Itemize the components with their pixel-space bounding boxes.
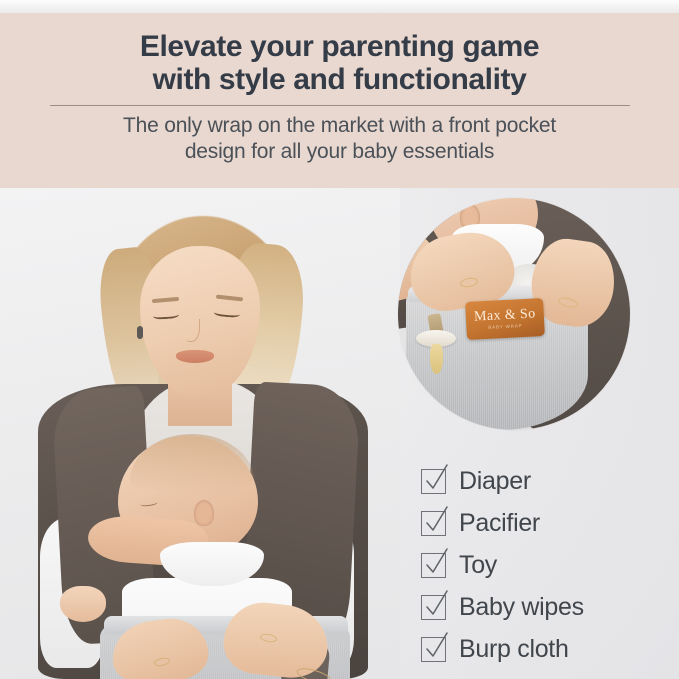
brand-tag-circle-name: Max & So bbox=[474, 306, 536, 324]
mother-lips bbox=[176, 350, 214, 363]
title-divider bbox=[50, 105, 630, 106]
mother-earring bbox=[137, 326, 143, 339]
checkbox-checked-icon[interactable] bbox=[421, 553, 446, 578]
checklist-item[interactable]: Baby wipes bbox=[421, 586, 671, 628]
brand-tag-circle-tagline: BABY WRAP bbox=[488, 322, 522, 331]
checkbox-checked-icon[interactable] bbox=[421, 595, 446, 620]
checklist-item-label: Toy bbox=[459, 551, 497, 579]
product-feature-banner: Elevate your parenting game with style a… bbox=[0, 0, 679, 679]
baby-foot bbox=[60, 586, 106, 622]
checklist-item-label: Baby wipes bbox=[459, 593, 584, 621]
baby-ear bbox=[194, 500, 214, 526]
subhead-line-2: design for all your baby essentials bbox=[30, 139, 650, 165]
headline-line-1: Elevate your parenting game bbox=[140, 30, 539, 63]
checklist-item[interactable]: Burp cloth bbox=[421, 628, 671, 670]
pacifier-circle bbox=[416, 314, 456, 378]
essentials-checklist: Diaper Pacifier Toy bbox=[421, 460, 671, 670]
headline-line-2: with style and functionality bbox=[40, 63, 640, 96]
hero-lifestyle-photo: Max & So BABY WRAP bbox=[0, 188, 400, 679]
checkbox-checked-icon[interactable] bbox=[421, 511, 446, 536]
header-banner: Elevate your parenting game with style a… bbox=[0, 13, 679, 188]
subhead-line-1: The only wrap on the market with a front… bbox=[123, 114, 556, 137]
top-edge-strip bbox=[0, 0, 679, 13]
checklist-item-label: Burp cloth bbox=[459, 635, 569, 663]
checklist-item-label: Diaper bbox=[459, 467, 531, 495]
checklist-item[interactable]: Diaper bbox=[421, 460, 671, 502]
page-subtitle: The only wrap on the market with a front… bbox=[30, 113, 650, 165]
checklist-item[interactable]: Pacifier bbox=[421, 502, 671, 544]
checkbox-checked-icon[interactable] bbox=[421, 469, 446, 494]
checklist-item-label: Pacifier bbox=[459, 509, 540, 537]
checkbox-checked-icon[interactable] bbox=[421, 637, 446, 662]
pocket-detail-circle-photo: Max & So BABY WRAP bbox=[398, 198, 630, 430]
product-photo-zone: Max & So BABY WRAP bbox=[0, 188, 679, 679]
pacifier-teat-circle bbox=[430, 344, 443, 374]
checklist-item[interactable]: Toy bbox=[421, 544, 671, 586]
brand-tag-circle: Max & So BABY WRAP bbox=[465, 298, 545, 340]
page-title: Elevate your parenting game with style a… bbox=[40, 30, 640, 96]
